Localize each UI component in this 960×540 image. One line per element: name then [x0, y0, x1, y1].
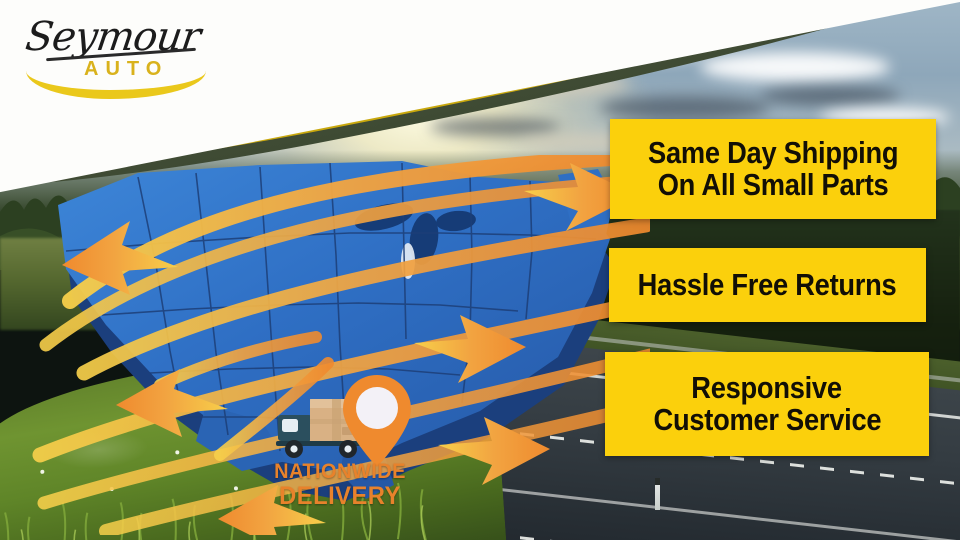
- promo-banner-1-line-1: Same Day Shipping: [648, 137, 898, 169]
- promo-banner-hassle-free-returns[interactable]: Hassle Free Returns: [609, 248, 926, 322]
- delivery-line: DELIVERY: [264, 483, 416, 509]
- map-pin-icon: [340, 373, 414, 469]
- nationwide-line: NATIONWIDE: [264, 461, 416, 483]
- promo-banner-1-line-2: On All Small Parts: [658, 169, 889, 201]
- promo-banner-canvas: Seymour AUTO: [0, 0, 960, 540]
- promo-banner-3-line-2: Customer Service: [653, 404, 881, 436]
- promo-banner-3-line-1: Responsive: [692, 372, 842, 404]
- promo-banner-2-line-1: Hassle Free Returns: [638, 269, 897, 301]
- roadside-marker-post: [655, 478, 660, 510]
- promo-banner-responsive-customer-service[interactable]: Responsive Customer Service: [605, 352, 929, 456]
- nationwide-delivery-heading: NATIONWIDE DELIVERY: [260, 461, 420, 509]
- us-map-graphic: NATIONWIDE DELIVERY: [10, 155, 650, 535]
- promo-banner-same-day-shipping[interactable]: Same Day Shipping On All Small Parts: [610, 119, 936, 219]
- brand-logo[interactable]: Seymour AUTO: [18, 8, 208, 94]
